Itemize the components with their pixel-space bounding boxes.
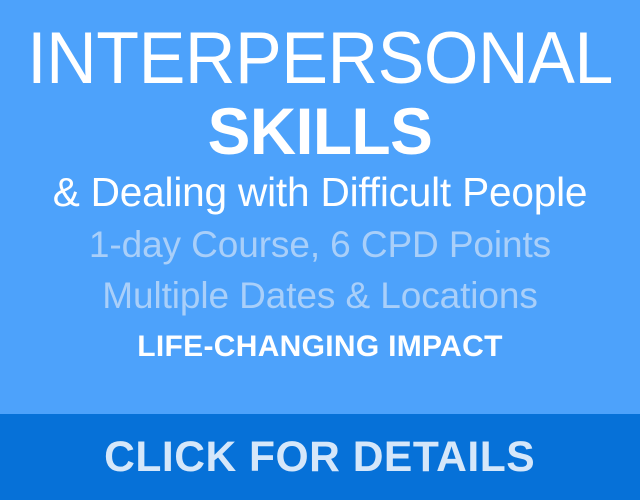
ad-headline-line-2: SKILLS: [10, 94, 631, 166]
ad-subheadline: & Dealing with Difficult People: [3, 166, 637, 218]
ad-impact-statement: LIFE-CHANGING IMPACT: [0, 320, 640, 366]
cta-button-label: CLICK FOR DETAILS: [105, 436, 536, 479]
ad-detail-course-info: 1-day Course, 6 CPD Points: [0, 218, 640, 269]
ad-detail-dates-locations: Multiple Dates & Locations: [0, 269, 640, 320]
advertisement-banner[interactable]: INTERPERSONAL SKILLS & Dealing with Diff…: [0, 0, 640, 500]
cta-button[interactable]: CLICK FOR DETAILS: [0, 414, 640, 500]
ad-content-area: INTERPERSONAL SKILLS & Dealing with Diff…: [0, 0, 640, 414]
ad-headline-line-1: INTERPERSONAL: [13, 16, 627, 94]
